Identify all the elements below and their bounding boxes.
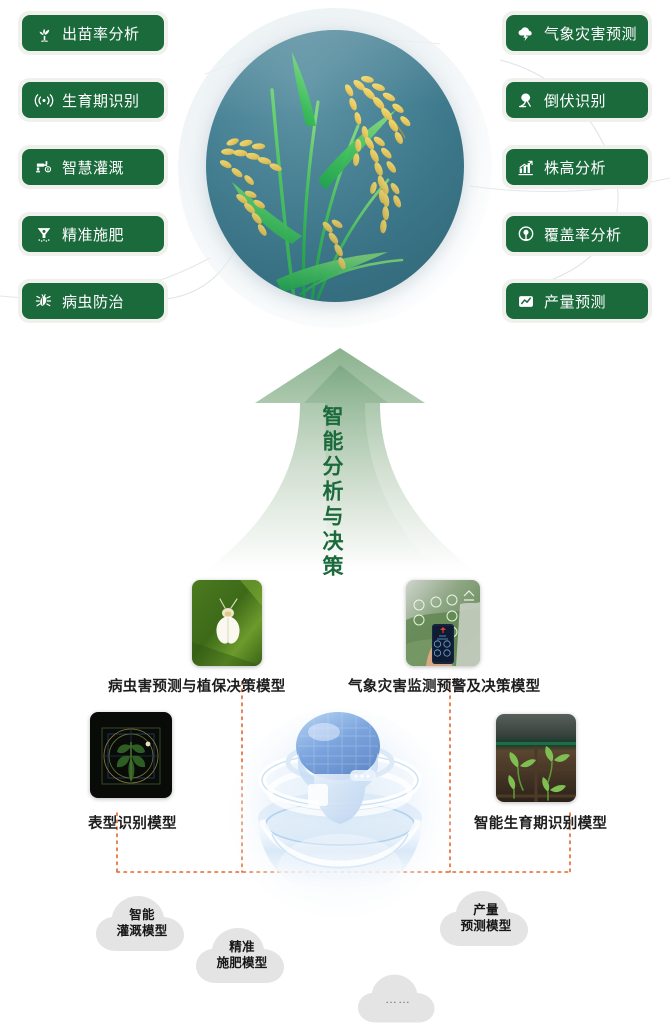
- seedling-icon: [34, 23, 54, 43]
- rice-crop-illustration: [206, 30, 464, 302]
- capability-pill-smart-irrigation[interactable]: 智慧灌溉: [18, 145, 168, 189]
- capability-label: 精准施肥: [62, 224, 124, 245]
- cloud-line-1: 智能: [129, 908, 154, 922]
- lodging-plant-icon: [516, 90, 536, 110]
- capability-label: 病虫防治: [62, 291, 124, 312]
- capability-label: 产量预测: [544, 291, 606, 312]
- capability-pill-plant-height-analysis[interactable]: 株高分析: [502, 145, 652, 189]
- capability-label: 倒伏识别: [544, 90, 606, 111]
- model-thumbnail-phenotype[interactable]: [90, 712, 172, 798]
- capability-label: 出苗率分析: [62, 23, 140, 44]
- cloud-line-1: 产量: [473, 903, 498, 917]
- diagram-canvas: 出苗率分析 生育期识别 智: [0, 0, 670, 1032]
- model-label-weather: 气象灾害监测预警及决策模型: [348, 675, 540, 696]
- ai-core-sphere: [228, 700, 453, 940]
- cloud-text: 产量 预测模型: [461, 903, 512, 934]
- model-label-growth: 智能生育期识别模型: [474, 812, 607, 833]
- center-crop-globe: [178, 8, 492, 328]
- capability-pill-emergence-rate[interactable]: 出苗率分析: [18, 11, 168, 55]
- cloud-line-2: 施肥模型: [217, 956, 268, 972]
- sprinkler-icon: [34, 157, 54, 177]
- cloud-text: 精准 施肥模型: [217, 940, 268, 971]
- capability-label: 株高分析: [544, 157, 606, 178]
- cloud-line-1: ……: [385, 992, 411, 1006]
- fertilizer-spreader-icon: [34, 224, 54, 244]
- pest-control-icon: [34, 291, 54, 311]
- cloud-line-2: 灌溉模型: [117, 924, 168, 940]
- capability-pill-coverage-analysis[interactable]: 覆盖率分析: [502, 212, 652, 256]
- capability-label: 气象灾害预测: [544, 23, 637, 44]
- storm-cloud-icon: [516, 23, 536, 43]
- globe-disc: [206, 30, 464, 302]
- capability-pill-lodging-recognition[interactable]: 倒伏识别: [502, 78, 652, 122]
- capability-label: 智慧灌溉: [62, 157, 124, 178]
- capability-pill-pest-control[interactable]: 病虫防治: [18, 279, 168, 323]
- cloud-line-1: 精准: [229, 940, 254, 954]
- model-label-pest: 病虫害预测与植保决策模型: [108, 675, 286, 696]
- model-thumbnail-growth[interactable]: [496, 714, 576, 802]
- cloud-label-more[interactable]: ……: [358, 972, 438, 1026]
- cloud-line-2: 预测模型: [461, 919, 512, 935]
- arrow-label: 智能分析与决策: [316, 405, 346, 580]
- capability-label: 生育期识别: [62, 90, 140, 111]
- capability-label: 覆盖率分析: [544, 224, 622, 245]
- signal-wave-icon: [34, 90, 54, 110]
- model-thumbnail-weather[interactable]: [406, 580, 480, 666]
- cloud-label-irrigation-model[interactable]: 智能 灌溉模型: [96, 893, 188, 955]
- bar-chart-up-icon: [516, 157, 536, 177]
- capability-pill-weather-disaster-forecast[interactable]: 气象灾害预测: [502, 11, 652, 55]
- coverage-target-icon: [516, 224, 536, 244]
- cloud-text: 智能 灌溉模型: [117, 908, 168, 939]
- capability-pill-yield-forecast[interactable]: 产量预测: [502, 279, 652, 323]
- cloud-label-fertilization-model[interactable]: 精准 施肥模型: [196, 925, 288, 987]
- capability-pill-precision-fertilization[interactable]: 精准施肥: [18, 212, 168, 256]
- model-thumbnail-pest[interactable]: [192, 580, 262, 666]
- line-chart-icon: [516, 291, 536, 311]
- model-label-phenotype: 表型识别模型: [88, 812, 177, 833]
- cloud-label-yield-model[interactable]: 产量 预测模型: [440, 888, 532, 950]
- capability-pill-growth-stage[interactable]: 生育期识别: [18, 78, 168, 122]
